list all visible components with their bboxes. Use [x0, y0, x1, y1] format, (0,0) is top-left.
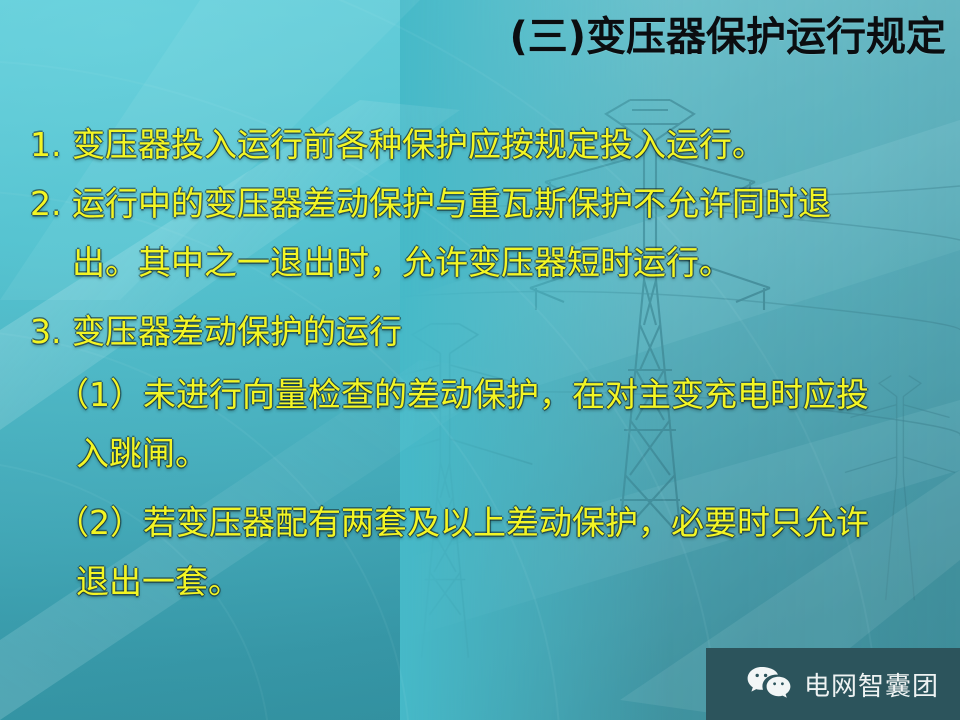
list-item: （2）若变压器配有两套及以上差动保护，必要时只允许 [0, 506, 960, 539]
watermark-bar: 电网智囊团 [706, 648, 960, 720]
wechat-icon [746, 665, 792, 703]
page-title: (三)变压器保护运行规定 [509, 12, 946, 62]
list-item: （1）未进行向量检查的差动保护，在对主变充电时应投 [0, 378, 960, 411]
content-list: 1. 变压器投入运行前各种保护应按规定投入运行。 2. 运行中的变压器差动保护与… [0, 128, 960, 624]
list-item: 退出一套。 [0, 565, 960, 598]
watermark-label: 电网智囊团 [804, 666, 939, 703]
list-item: 3. 变压器差动保护的运行 [0, 315, 960, 348]
list-item: 1. 变压器投入运行前各种保护应按规定投入运行。 [0, 128, 960, 161]
slide-canvas: (三)变压器保护运行规定 1. 变压器投入运行前各种保护应按规定投入运行。 2.… [0, 0, 960, 720]
list-item: 入跳闸。 [0, 437, 960, 470]
list-item: 出。其中之一退出时，允许变压器短时运行。 [0, 246, 960, 279]
list-item: 2. 运行中的变压器差动保护与重瓦斯保护不允许同时退 [0, 187, 960, 220]
